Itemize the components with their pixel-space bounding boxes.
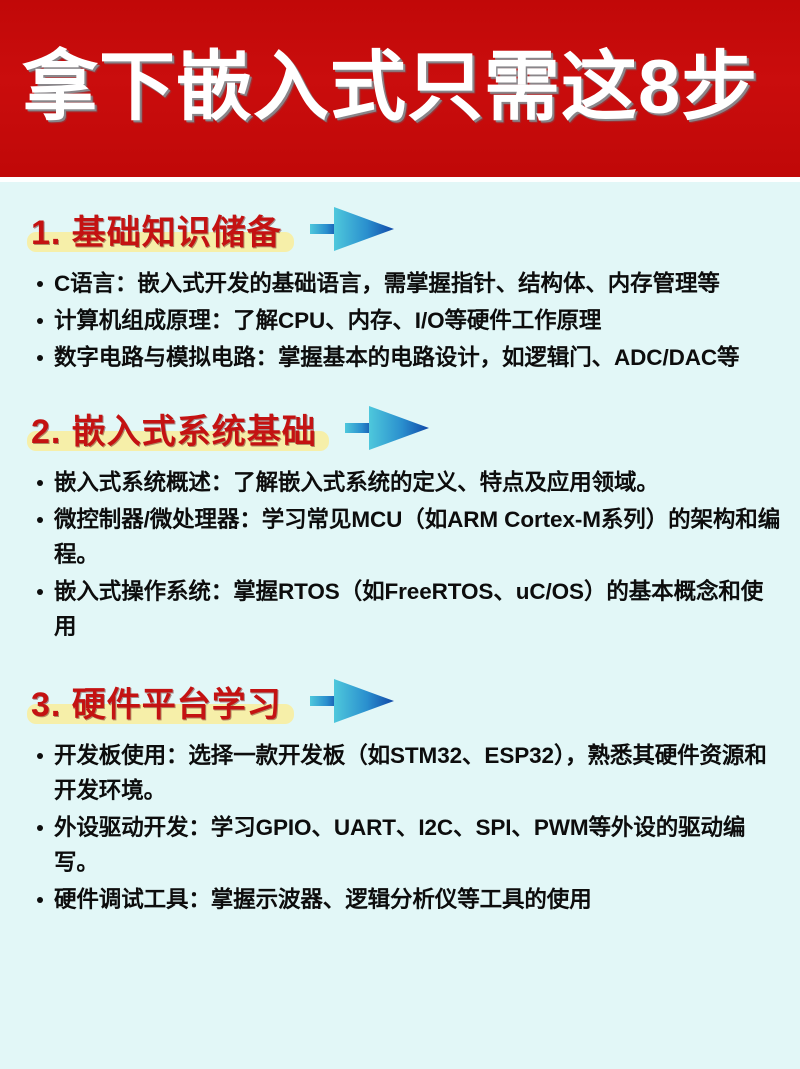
section-1-heading-wrap: 1. 基础知识储备: [27, 205, 288, 254]
list-item: 嵌入式操作系统：掌握RTOS（如FreeRTOS、uC/OS）的基本概念和使用: [37, 574, 782, 644]
section-2-header: 2. 嵌入式系统基础: [27, 397, 800, 459]
section-3: 3. 硬件平台学习 开发板使用：选择一款开发板（如STM32: [0, 670, 800, 917]
list-item: 外设驱动开发：学习GPIO、UART、I2C、SPI、PWM等外设的驱动编写。: [37, 810, 782, 880]
page-title: 拿下嵌入式只需这8步: [22, 44, 782, 132]
header-banner: 拿下嵌入式只需这8步: [0, 0, 800, 177]
arrow-right-icon: [345, 400, 437, 456]
list-item: 硬件调试工具：掌握示波器、逻辑分析仪等工具的使用: [37, 882, 782, 917]
section-3-heading-wrap: 3. 硬件平台学习: [27, 677, 288, 726]
list-item: 微控制器/微处理器：学习常见MCU（如ARM Cortex-M系列）的架构和编程…: [37, 502, 782, 572]
list-item: 数字电路与模拟电路：掌握基本的电路设计，如逻辑门、ADC/DAC等: [37, 340, 782, 375]
section-3-header: 3. 硬件平台学习: [27, 670, 800, 732]
arrow-right-icon: [310, 201, 402, 257]
section-2-bullet-list: 嵌入式系统概述：了解嵌入式系统的定义、特点及应用领域。 微控制器/微处理器：学习…: [0, 465, 800, 644]
list-item: 计算机组成原理：了解CPU、内存、I/O等硬件工作原理: [37, 303, 782, 338]
content-area: 1. 基础知识储备 C语言：嵌入式开发的基础语言，需掌握指针: [0, 182, 800, 1069]
section-3-bullet-list: 开发板使用：选择一款开发板（如STM32、ESP32），熟悉其硬件资源和开发环境…: [0, 738, 800, 917]
list-item: 嵌入式系统概述：了解嵌入式系统的定义、特点及应用领域。: [37, 465, 782, 500]
arrow-right-icon: [310, 673, 402, 729]
section-2-heading: 2. 嵌入式系统基础: [31, 413, 317, 451]
section-2-heading-wrap: 2. 嵌入式系统基础: [27, 404, 323, 453]
section-1-bullet-list: C语言：嵌入式开发的基础语言，需掌握指针、结构体、内存管理等 计算机组成原理：了…: [0, 266, 800, 375]
list-item: C语言：嵌入式开发的基础语言，需掌握指针、结构体、内存管理等: [37, 266, 782, 301]
section-2: 2. 嵌入式系统基础 嵌入式系统概述：了解嵌入式系统的定义、: [0, 397, 800, 644]
section-1-heading: 1. 基础知识储备: [31, 214, 282, 252]
section-1-header: 1. 基础知识储备: [27, 198, 800, 260]
section-3-heading: 3. 硬件平台学习: [31, 686, 282, 724]
section-1: 1. 基础知识储备 C语言：嵌入式开发的基础语言，需掌握指针: [0, 198, 800, 375]
list-item: 开发板使用：选择一款开发板（如STM32、ESP32），熟悉其硬件资源和开发环境…: [37, 738, 782, 808]
